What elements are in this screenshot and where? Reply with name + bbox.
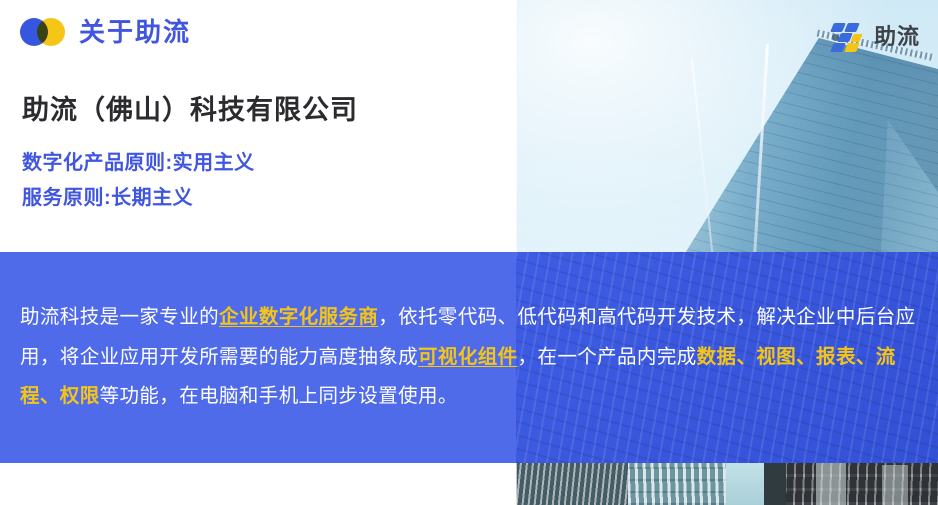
section-title: 关于助流 [79,19,191,45]
building-f [816,457,846,505]
company-description: 助流科技是一家专业的企业数字化服务商，依托零代码、低代码和高代码开发技术，解决企… [20,298,916,418]
slide-root: 助流 关于助流 助流（佛山）科技有限公司 数字化产品原则:实用主义 服务原则:长… [0,0,938,505]
desc-highlight-visual-components: 可视化组件 [418,346,518,368]
company-name: 助流（佛山）科技有限公司 [22,94,358,128]
circle-gold [37,18,65,46]
building-g [882,465,908,505]
mark-shape-2 [844,23,860,32]
description-band: 助流科技是一家专业的企业数字化服务商，依托零代码、低代码和高代码开发技术，解决企… [0,252,938,463]
overlapping-circles-icon [20,18,66,46]
principle-item-product: 数字化产品原则:实用主义 [22,146,255,181]
mark-bolt-accent-1 [844,43,860,52]
brand-name: 助流 [874,26,920,48]
desc-seg-0: 助流科技是一家专业的 [20,306,219,328]
desc-highlight-service-provider: 企业数字化服务商 [219,306,378,328]
description-text-wrapper: 助流科技是一家专业的企业数字化服务商，依托零代码、低代码和高代码开发技术，解决企… [0,252,938,463]
principle-item-service: 服务原则:长期主义 [22,181,255,216]
section-header: 关于助流 [20,18,191,46]
principles-list: 数字化产品原则:实用主义 服务原则:长期主义 [22,146,255,216]
brand-logo[interactable]: 助流 [831,20,920,54]
desc-seg-4: ，在一个产品内完成 [518,346,697,368]
zhuliu-mark-icon [831,20,865,54]
mark-bolt-accent-2 [850,34,862,42]
desc-seg-6: 等功能，在电脑和手机上同步设置使用。 [100,385,458,407]
